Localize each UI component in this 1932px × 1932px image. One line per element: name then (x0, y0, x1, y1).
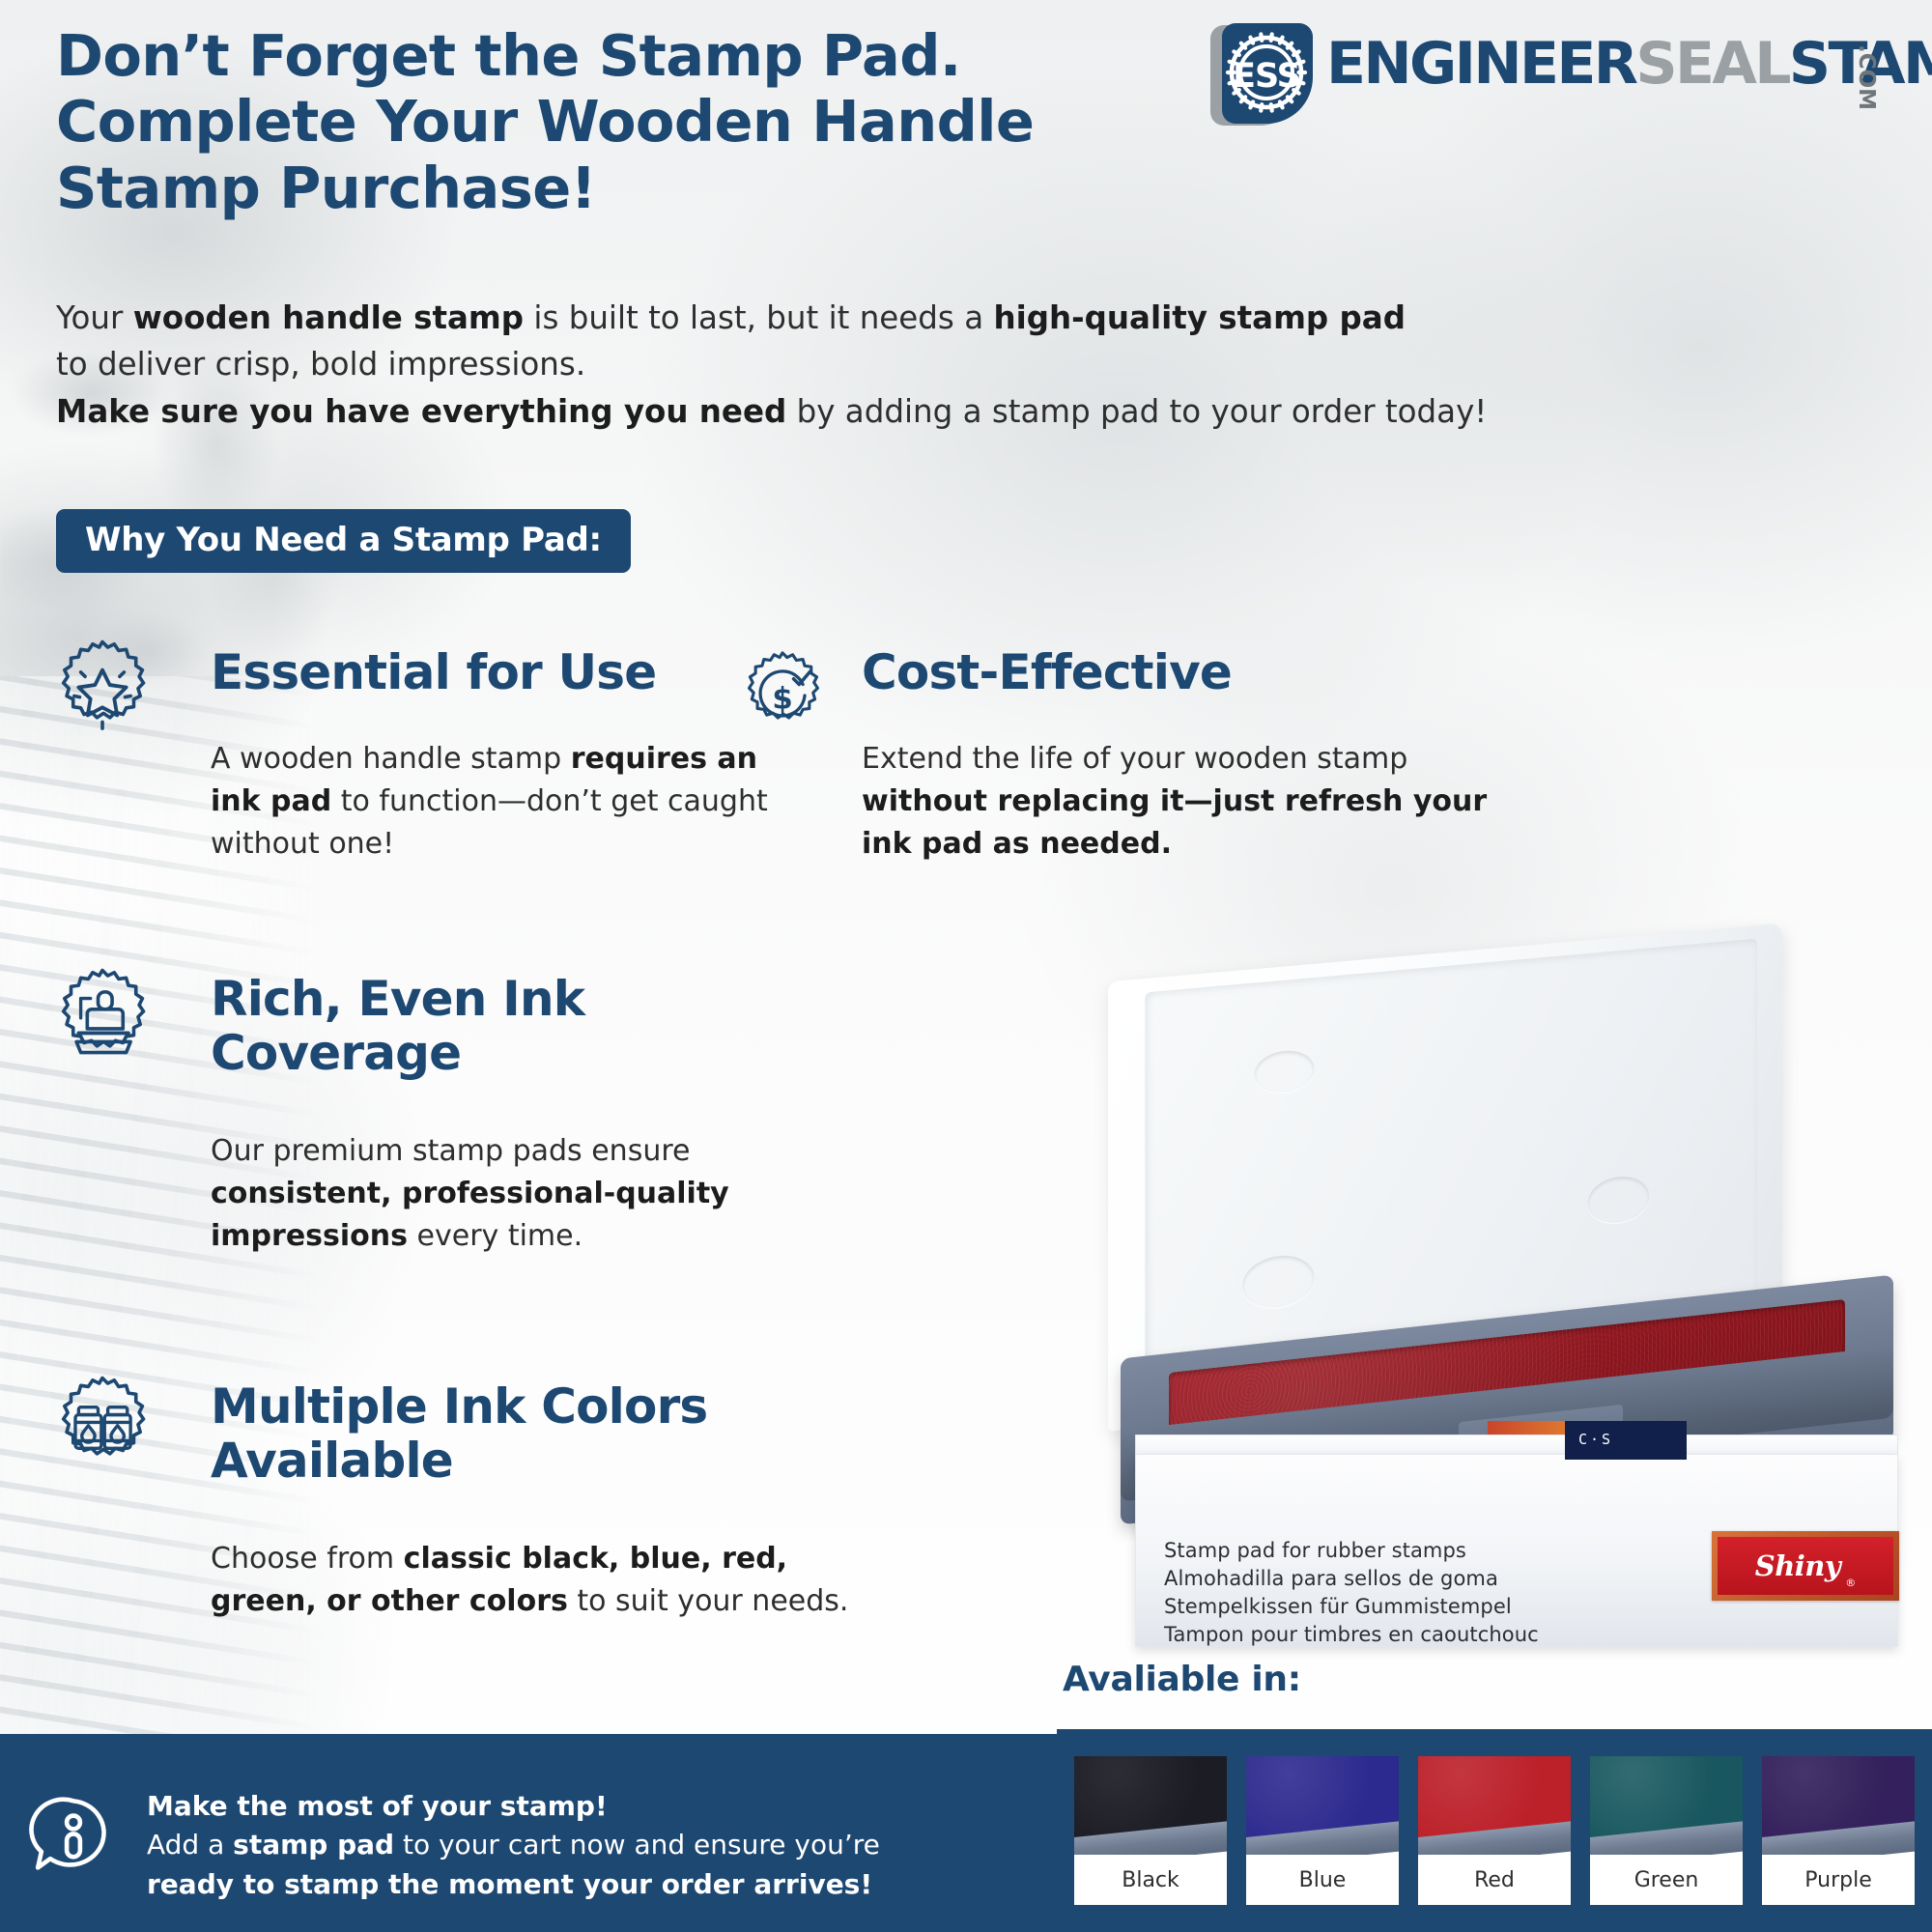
info-bubble-icon (29, 1794, 118, 1883)
swatch-blue[interactable]: Blue (1242, 1752, 1403, 1909)
swatch-image (1762, 1756, 1915, 1855)
feature-title: Multiple Ink Colors Available (211, 1379, 810, 1488)
headline-line-1: Don’t Forget the Stamp Pad. (56, 23, 1215, 89)
dollar-check-badge-icon: $ (736, 649, 829, 742)
intro-line-3: Make sure you have everything you need b… (56, 388, 1698, 435)
product-box-label-code: C·S (1565, 1421, 1687, 1460)
ess-shield-icon: ESS (1203, 19, 1317, 131)
headline-line-3: Stamp Purchase! (56, 156, 1215, 221)
footer-line-1: Make the most of your stamp! (147, 1787, 1045, 1826)
swatch-green[interactable]: Green (1586, 1752, 1747, 1909)
feature-body: Extend the life of your wooden stamp wit… (862, 738, 1499, 866)
star-badge-icon (48, 638, 156, 746)
why-badge: Why You Need a Stamp Pad: (56, 509, 631, 573)
swatch-label: Purple (1762, 1855, 1915, 1905)
footer-message: Make the most of your stamp! Add a stamp… (147, 1787, 1045, 1904)
feature-title: Cost-Effective (862, 645, 1577, 699)
headline-line-2: Complete Your Wooden Handle (56, 89, 1215, 155)
swatch-black[interactable]: Black (1070, 1752, 1231, 1909)
swatch-image (1246, 1756, 1399, 1855)
wordmark-tld: .COM (1854, 44, 1879, 110)
page-title: Don’t Forget the Stamp Pad. Complete You… (56, 23, 1215, 221)
available-in-label: Avaliable in: (1063, 1660, 1301, 1699)
lid-dimple (1242, 1252, 1314, 1312)
swatch-label: Green (1590, 1855, 1743, 1905)
box-line-de: Stempelkissen für Gummistempel (1164, 1593, 1676, 1621)
swatch-image (1074, 1756, 1227, 1855)
shiny-logo-text: Shiny (1755, 1549, 1840, 1582)
svg-text:ESS: ESS (1233, 57, 1300, 96)
color-swatch-strip: Black Blue Red Green (1057, 1729, 1932, 1932)
intro-line-1: Your wooden handle stamp is built to las… (56, 295, 1698, 341)
lid-dimple (1255, 1048, 1315, 1095)
feature-title: Rich, Even Ink Coverage (211, 972, 752, 1080)
ink-bottles-badge-icon (48, 1374, 156, 1482)
swatch-image (1418, 1756, 1571, 1855)
swatch-label: Black (1074, 1855, 1227, 1905)
shiny-brand-logo: Shiny ® (1712, 1531, 1899, 1601)
product-box-code: C·S (1578, 1431, 1613, 1448)
product-photo: C·S Stamp pad for rubber stamps Almohadi… (1063, 952, 1932, 1666)
footer-line-2: Add a stamp pad to your cart now and ens… (147, 1826, 1045, 1864)
brand-wordmark: ENGINEERSEALSTAMPS (1326, 35, 1932, 93)
stamp-badge-icon (48, 966, 156, 1074)
wordmark-engineer: ENGINEER (1326, 30, 1635, 98)
box-line-es: Almohadilla para sellos de goma (1164, 1565, 1676, 1593)
footer-line-3: ready to stamp the moment your order arr… (147, 1865, 1045, 1904)
shiny-logo-inner: Shiny ® (1718, 1537, 1893, 1595)
svg-text:$: $ (772, 681, 792, 716)
swatch-label: Blue (1246, 1855, 1399, 1905)
intro-line-2: to deliver crisp, bold impressions. (56, 341, 1698, 387)
box-line-en: Stamp pad for rubber stamps (1164, 1537, 1676, 1565)
feature-body: A wooden handle stamp requires an ink pa… (211, 738, 810, 866)
lid-dimple (1588, 1174, 1650, 1226)
registered-mark: ® (1845, 1577, 1856, 1589)
swatch-label: Red (1418, 1855, 1571, 1905)
swatch-image (1590, 1756, 1743, 1855)
swatch-purple[interactable]: Purple (1758, 1752, 1918, 1909)
swatch-red[interactable]: Red (1414, 1752, 1575, 1909)
product-box-text: Stamp pad for rubber stamps Almohadilla … (1164, 1537, 1676, 1649)
infographic-page: Don’t Forget the Stamp Pad. Complete You… (0, 0, 1932, 1932)
wordmark-seal: SEAL (1635, 30, 1788, 98)
header: Don’t Forget the Stamp Pad. Complete You… (0, 0, 1932, 290)
box-line-fr: Tampon pour timbres en caoutchouc (1164, 1621, 1676, 1649)
intro-paragraph: Your wooden handle stamp is built to las… (56, 295, 1698, 435)
brand-logo[interactable]: ESS ENGINEERSEALSTAMPS .COM (1203, 19, 1918, 131)
feature-body: Choose from classic black, blue, red, gr… (211, 1538, 887, 1623)
feature-body: Our premium stamp pads ensure consistent… (211, 1130, 790, 1258)
